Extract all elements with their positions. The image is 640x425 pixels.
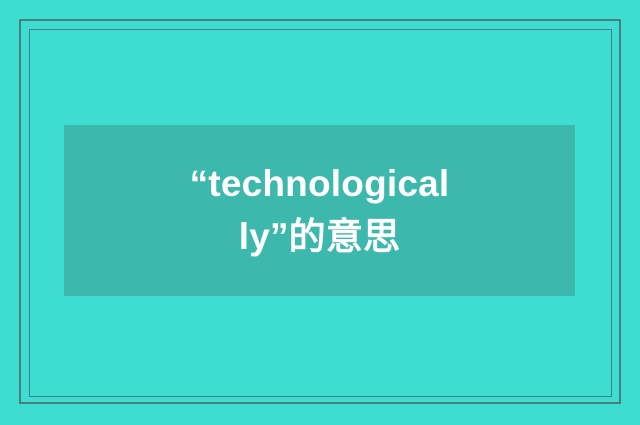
headline-text: “technologically”的意思 [185, 158, 455, 263]
headline-panel: “technologically”的意思 [64, 125, 575, 296]
image-card: “technologically”的意思 [0, 0, 640, 425]
